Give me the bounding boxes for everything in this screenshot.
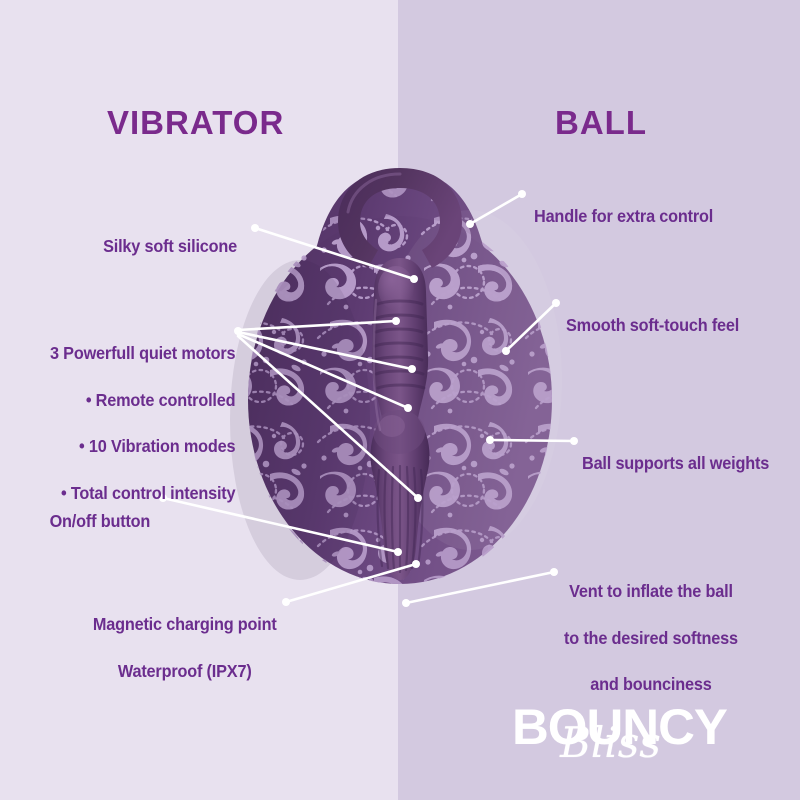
- callout-magnetic-charging-waterproof: Magnetic charging point Waterproof (IPX7…: [93, 590, 277, 706]
- callout-line: and bounciness: [564, 673, 738, 696]
- brand-logo: BOUNCY Bliss: [512, 700, 780, 778]
- heading-ball: BALL: [555, 106, 647, 139]
- callout-line: Ball supports all weights: [582, 452, 769, 475]
- callout-line: Waterproof (IPX7): [93, 660, 277, 683]
- callout-handle-for-extra-control: Handle for extra control: [534, 182, 713, 252]
- callout-line: • 10 Vibration modes: [50, 435, 235, 458]
- callout-on-off-button: On/off button: [49, 487, 150, 557]
- callout-line: to the desired softness: [564, 627, 738, 650]
- callout-line: Handle for extra control: [534, 205, 713, 228]
- callout-smooth-soft-touch-feel: Smooth soft-touch feel: [566, 291, 739, 361]
- callout-line: On/off button: [49, 510, 150, 533]
- callout-line: Smooth soft-touch feel: [566, 314, 739, 337]
- callout-line: Magnetic charging point: [93, 613, 277, 636]
- callout-ball-supports-all-weights: Ball supports all weights: [582, 429, 769, 499]
- callout-line: Silky soft silicone: [103, 235, 237, 258]
- callout-line: • Remote controlled: [50, 389, 235, 412]
- callout-line: Vent to inflate the ball: [564, 580, 738, 603]
- callout-line: 3 Powerfull quiet motors: [50, 342, 235, 365]
- infographic-canvas: VIBRATOR BALL Silky soft silicone 3 Powe…: [0, 0, 800, 800]
- callout-vent-to-inflate: Vent to inflate the ball to the desired …: [564, 557, 738, 720]
- logo-scriptmark: Bliss: [560, 722, 661, 764]
- heading-vibrator: VIBRATOR: [107, 106, 284, 139]
- leader-ball-supports-weights: [490, 440, 574, 441]
- callout-silky-soft-silicone: Silky soft silicone: [103, 212, 237, 282]
